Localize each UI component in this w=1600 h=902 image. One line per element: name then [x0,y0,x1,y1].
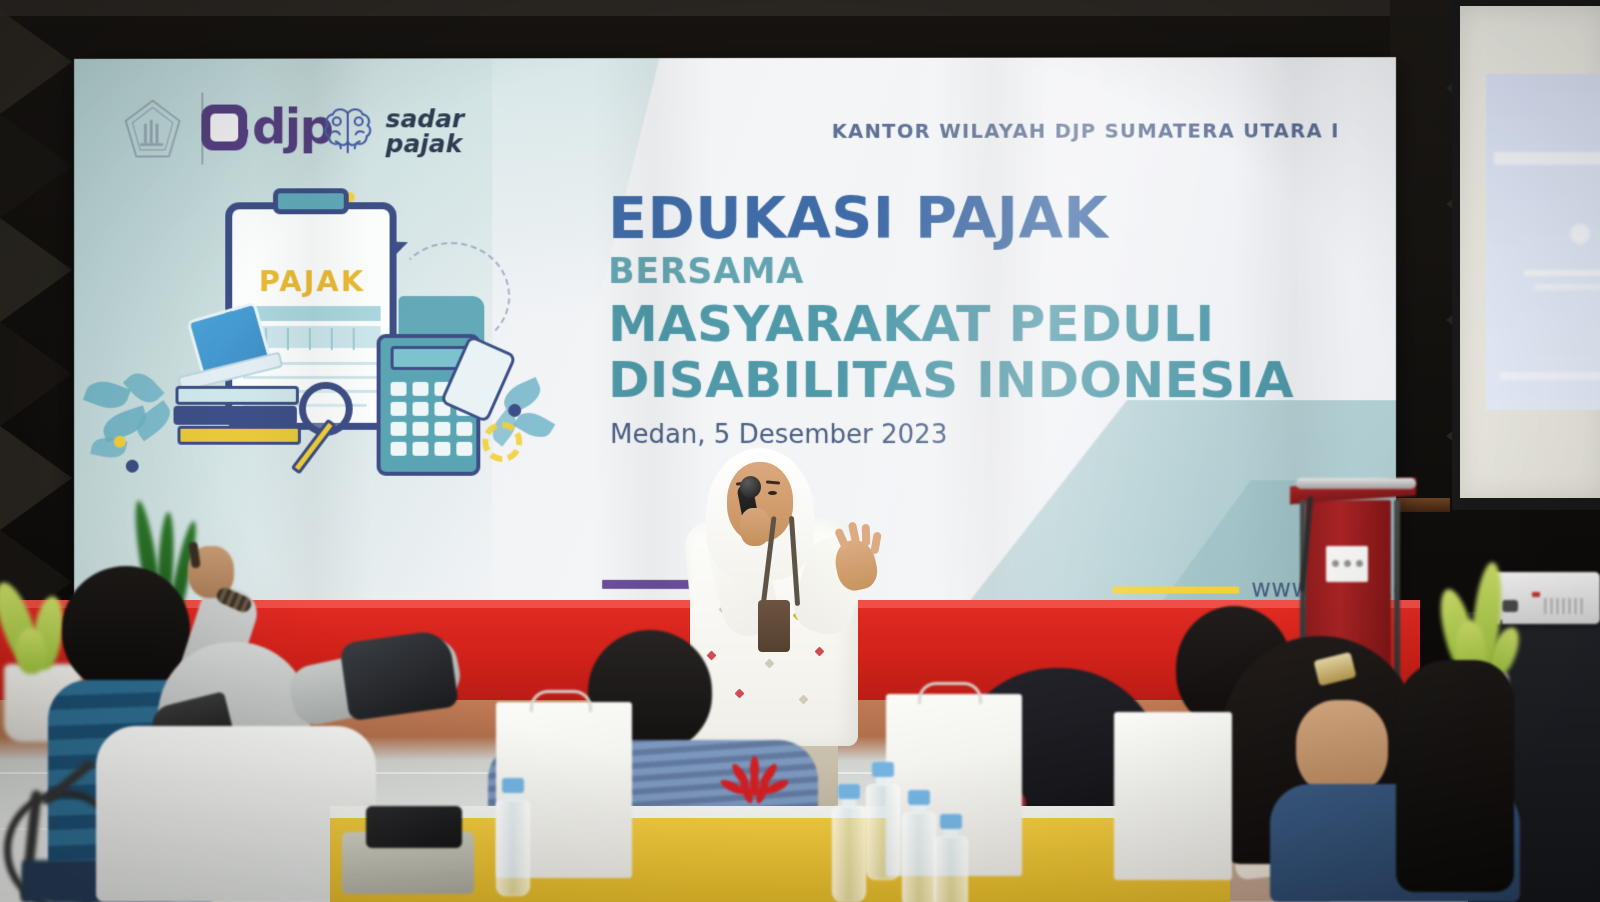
goodie-bag-handle [530,690,592,712]
speaker-mic-hand [740,508,770,546]
podium-control-panel [1326,546,1368,582]
microphone-head [740,476,761,498]
face [1296,700,1388,796]
presentation-slide [1486,74,1600,410]
black-pouch [366,806,462,848]
ceiling-strip [0,0,1600,16]
water-bottle [902,812,936,902]
flower-centerpiece [726,756,784,804]
black-bag [339,629,459,722]
water-bottle [832,806,866,902]
water-bottle [934,836,968,902]
goodie-bag-handle [918,682,982,704]
goodie-bag [1114,712,1232,880]
speaker-id-badge [758,600,790,652]
projector [1488,572,1600,624]
event-photo-scene: PAJAK [0,0,1600,902]
water-bottle [496,800,530,896]
hair-back [1396,660,1514,892]
projection-screen [1460,6,1600,498]
water-bottle [866,784,900,880]
podium-rail [1296,478,1416,489]
